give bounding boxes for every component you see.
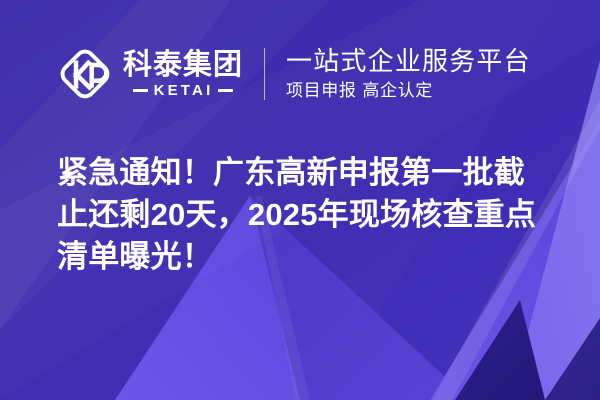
logo-english-row: KETAI [123, 83, 243, 99]
headline-line-1: 紧急通知！广东高新申报第一批截 [57, 152, 557, 194]
banner-header: 科泰集团 KETAI 一站式企业服务平台 项目申报 高企认定 [0, 34, 600, 114]
tagline-primary: 一站式企业服务平台 [286, 47, 531, 77]
logo-wordmark: 科泰集团 KETAI [123, 50, 243, 99]
ketai-diamond-monogram-icon [57, 46, 113, 102]
tagline-secondary: 项目申报 高企认定 [286, 80, 531, 102]
logo-left-dash [133, 89, 148, 92]
headline-line-3: 清单曝光！ [57, 236, 557, 278]
logo-english-name: KETAI [148, 83, 219, 99]
logo-right-dash [218, 89, 233, 92]
promo-banner: 科泰集团 KETAI 一站式企业服务平台 项目申报 高企认定 紧急通知！广东高新… [0, 0, 600, 400]
brand-logo[interactable]: 科泰集团 KETAI [57, 46, 243, 102]
header-divider [264, 48, 265, 100]
headline: 紧急通知！广东高新申报第一批截 止还剩20天，2025年现场核查重点 清单曝光！ [57, 152, 557, 278]
tagline-group: 一站式企业服务平台 项目申报 高企认定 [286, 47, 531, 102]
headline-line-2: 止还剩20天，2025年现场核查重点 [57, 194, 557, 236]
logo-chinese-name: 科泰集团 [123, 50, 243, 81]
